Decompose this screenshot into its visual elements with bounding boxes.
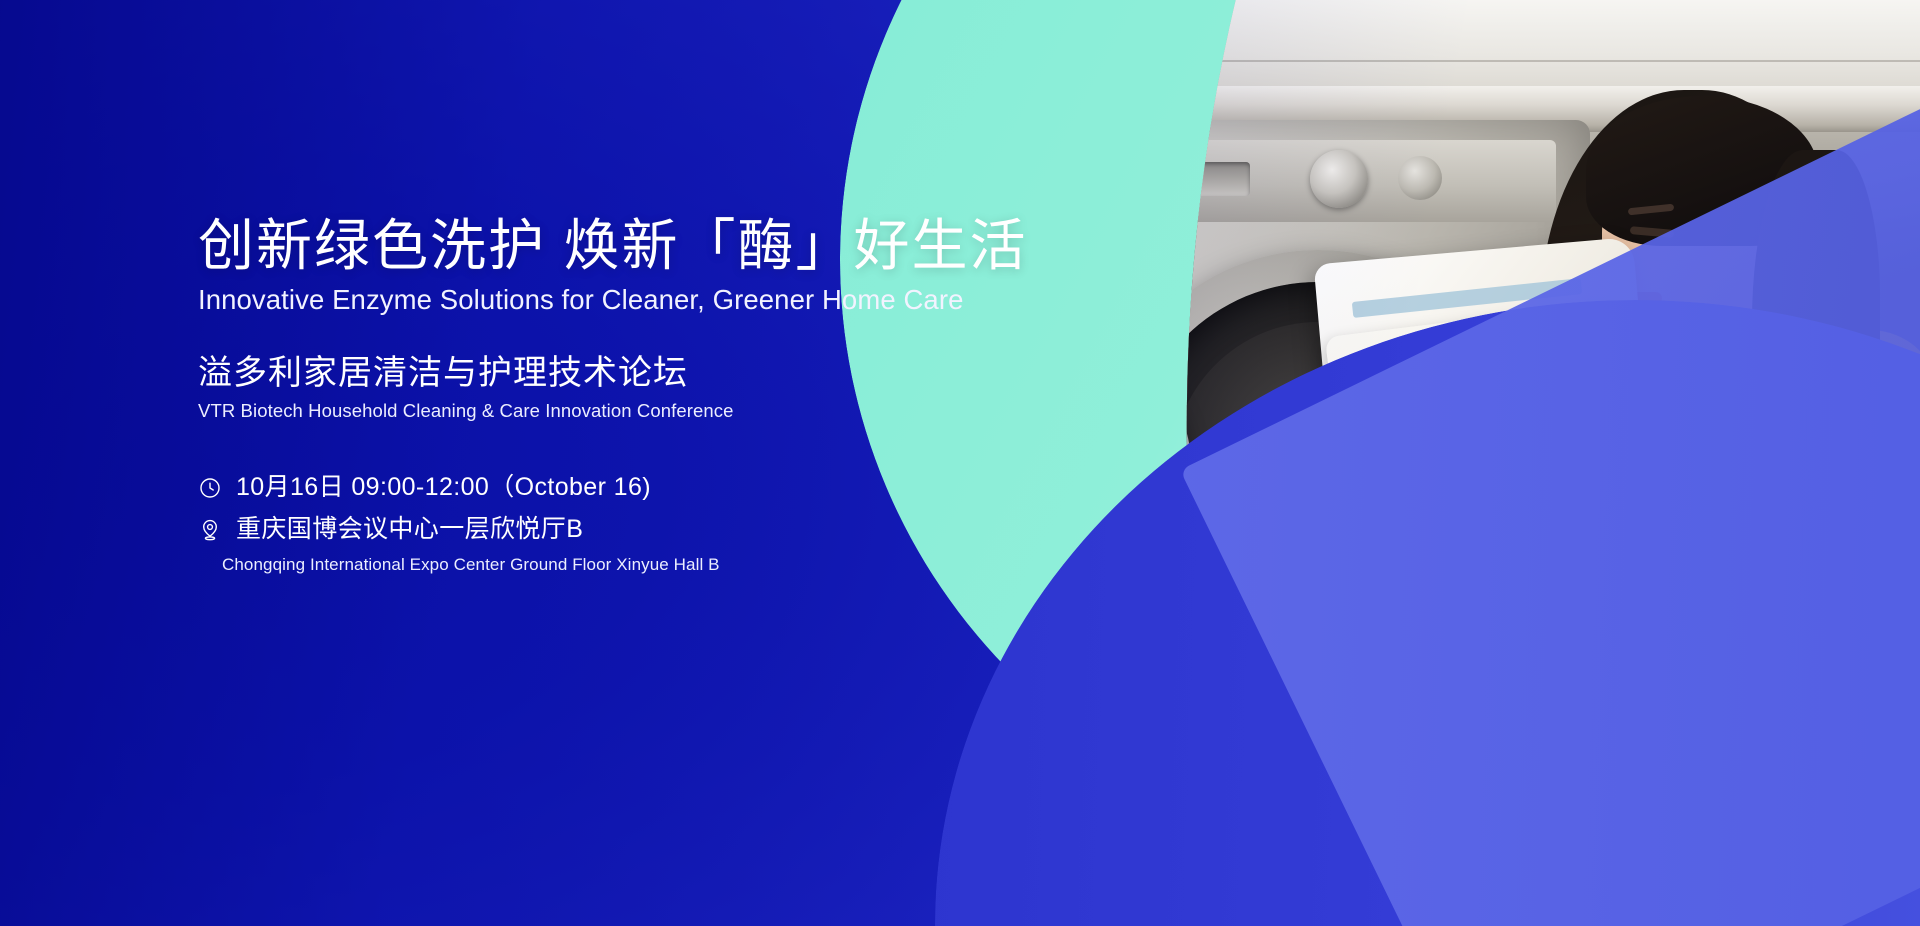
event-venue: 重庆国博会议中心一层欣悦厅B bbox=[236, 514, 583, 545]
event-datetime-texts: 10月16日 09:00-12:00（October 16) bbox=[236, 472, 651, 503]
event-datetime-row: 10月16日 09:00-12:00（October 16) bbox=[198, 472, 1038, 503]
location-pin-icon bbox=[198, 518, 222, 542]
banner-content: 创新绿色洗护 焕新「酶」好生活 Innovative Enzyme Soluti… bbox=[198, 214, 1038, 575]
conference-name-english: VTR Biotech Household Cleaning & Care In… bbox=[198, 400, 1038, 422]
conference-name: 溢多利家居清洁与护理技术论坛 bbox=[198, 352, 1038, 395]
subtitle-block: 溢多利家居清洁与护理技术论坛 VTR Biotech Household Cle… bbox=[198, 352, 1038, 423]
event-datetime: 10月16日 09:00-12:00（October 16) bbox=[236, 472, 651, 503]
page-title-english: Innovative Enzyme Solutions for Cleaner,… bbox=[198, 283, 1038, 316]
page-title: 创新绿色洗护 焕新「酶」好生活 bbox=[198, 214, 1038, 279]
event-venue-english: Chongqing International Expo Center Grou… bbox=[222, 555, 1038, 575]
event-meta: 10月16日 09:00-12:00（October 16) 重庆国博会议中心一… bbox=[198, 472, 1038, 575]
event-venue-row: 重庆国博会议中心一层欣悦厅B bbox=[198, 514, 1038, 545]
clock-icon bbox=[198, 476, 222, 500]
event-venue-texts: 重庆国博会议中心一层欣悦厅B bbox=[236, 514, 583, 545]
conference-banner: 创新绿色洗护 焕新「酶」好生活 Innovative Enzyme Soluti… bbox=[0, 0, 1920, 926]
